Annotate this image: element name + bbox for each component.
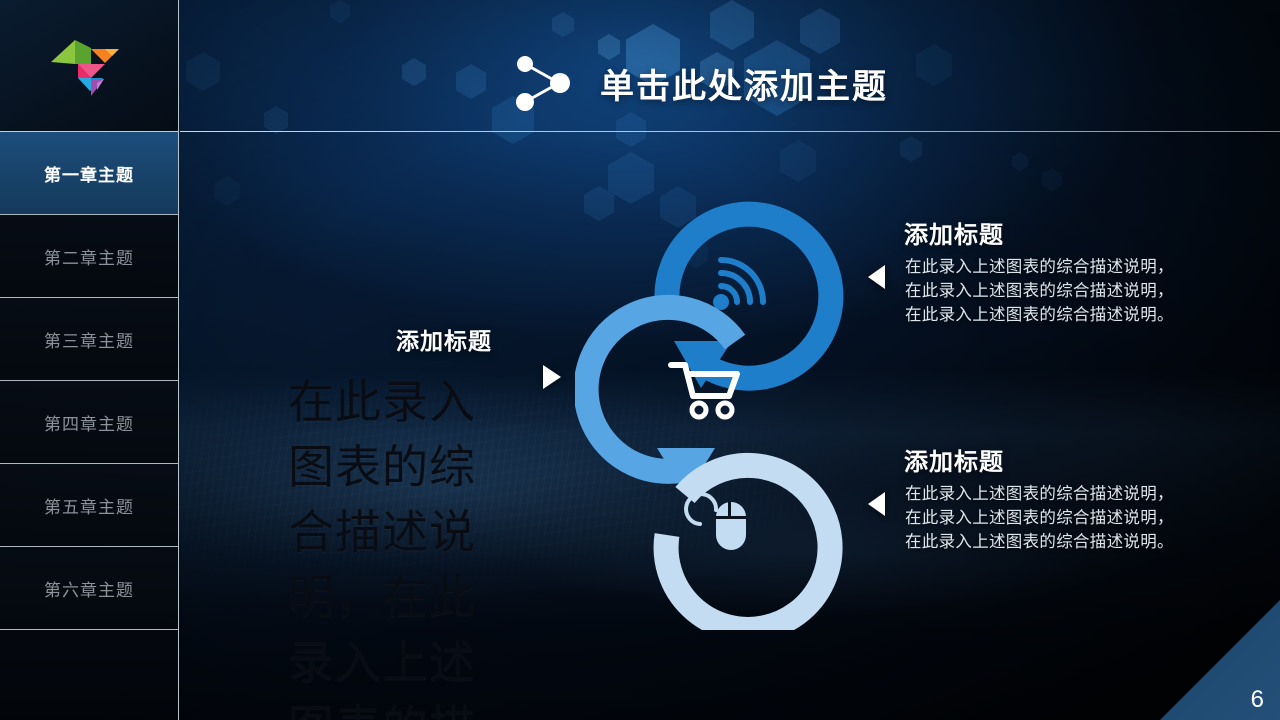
left-block-title: 添加标题 xyxy=(396,322,492,356)
sidebar-item-label: 第三章主题 xyxy=(44,327,134,352)
tangram-bird-logo-icon xyxy=(45,36,123,100)
logo-cell xyxy=(0,0,178,132)
right-block-body: 在此录入上述图表的综合描述说明，在此录入上述图表的综合描述说明，在此录入上述图表… xyxy=(905,482,1183,554)
sidebar-filler xyxy=(0,630,178,720)
sidebar-item-chapter-6[interactable]: 第六章主题 xyxy=(0,547,178,630)
page-title: 单击此处添加主题 xyxy=(600,59,888,108)
sidebar-item-chapter-4[interactable]: 第四章主题 xyxy=(0,381,178,464)
wifi-signal-icon xyxy=(713,260,763,310)
left-arrow-marker-icon xyxy=(868,265,885,289)
sidebar-item-label: 第四章主题 xyxy=(44,410,134,435)
share-nodes-icon xyxy=(512,52,574,114)
sidebar-item-chapter-5[interactable]: 第五章主题 xyxy=(0,464,178,547)
sidebar-item-label: 第一章主题 xyxy=(44,161,134,186)
right-block-title: 添加标题 xyxy=(904,215,1004,250)
sidebar-item-chapter-2[interactable]: 第二章主题 xyxy=(0,215,178,298)
process-cycle-diagram xyxy=(575,190,865,630)
sidebar-item-chapter-3[interactable]: 第三章主题 xyxy=(0,298,178,381)
sidebar-item-chapter-1[interactable]: 第一章主题 xyxy=(0,132,178,215)
sidebar-item-label: 第二章主题 xyxy=(44,244,134,269)
slide-canvas: 第一章主题 第二章主题 第三章主题 第四章主题 第五章主题 第六章主题 单击此处… xyxy=(0,0,1280,720)
header-divider xyxy=(180,131,1280,132)
right-arrow-marker-icon xyxy=(543,365,561,389)
shopping-cart-icon xyxy=(671,365,737,417)
sidebar: 第一章主题 第二章主题 第三章主题 第四章主题 第五章主题 第六章主题 xyxy=(0,0,179,720)
left-block-body: 在此录入图表的综合描述说明，在此录入上述图表的描述说明 xyxy=(288,370,520,720)
right-block-title: 添加标题 xyxy=(904,442,1004,477)
page-number: 6 xyxy=(1251,686,1264,714)
cycle-step-bottom xyxy=(666,465,830,629)
right-block-body: 在此录入上述图表的综合描述说明，在此录入上述图表的综合描述说明，在此录入上述图表… xyxy=(905,255,1183,327)
left-arrow-marker-icon xyxy=(868,492,885,516)
sidebar-item-label: 第五章主题 xyxy=(44,493,134,518)
sidebar-item-label: 第六章主题 xyxy=(44,576,134,601)
